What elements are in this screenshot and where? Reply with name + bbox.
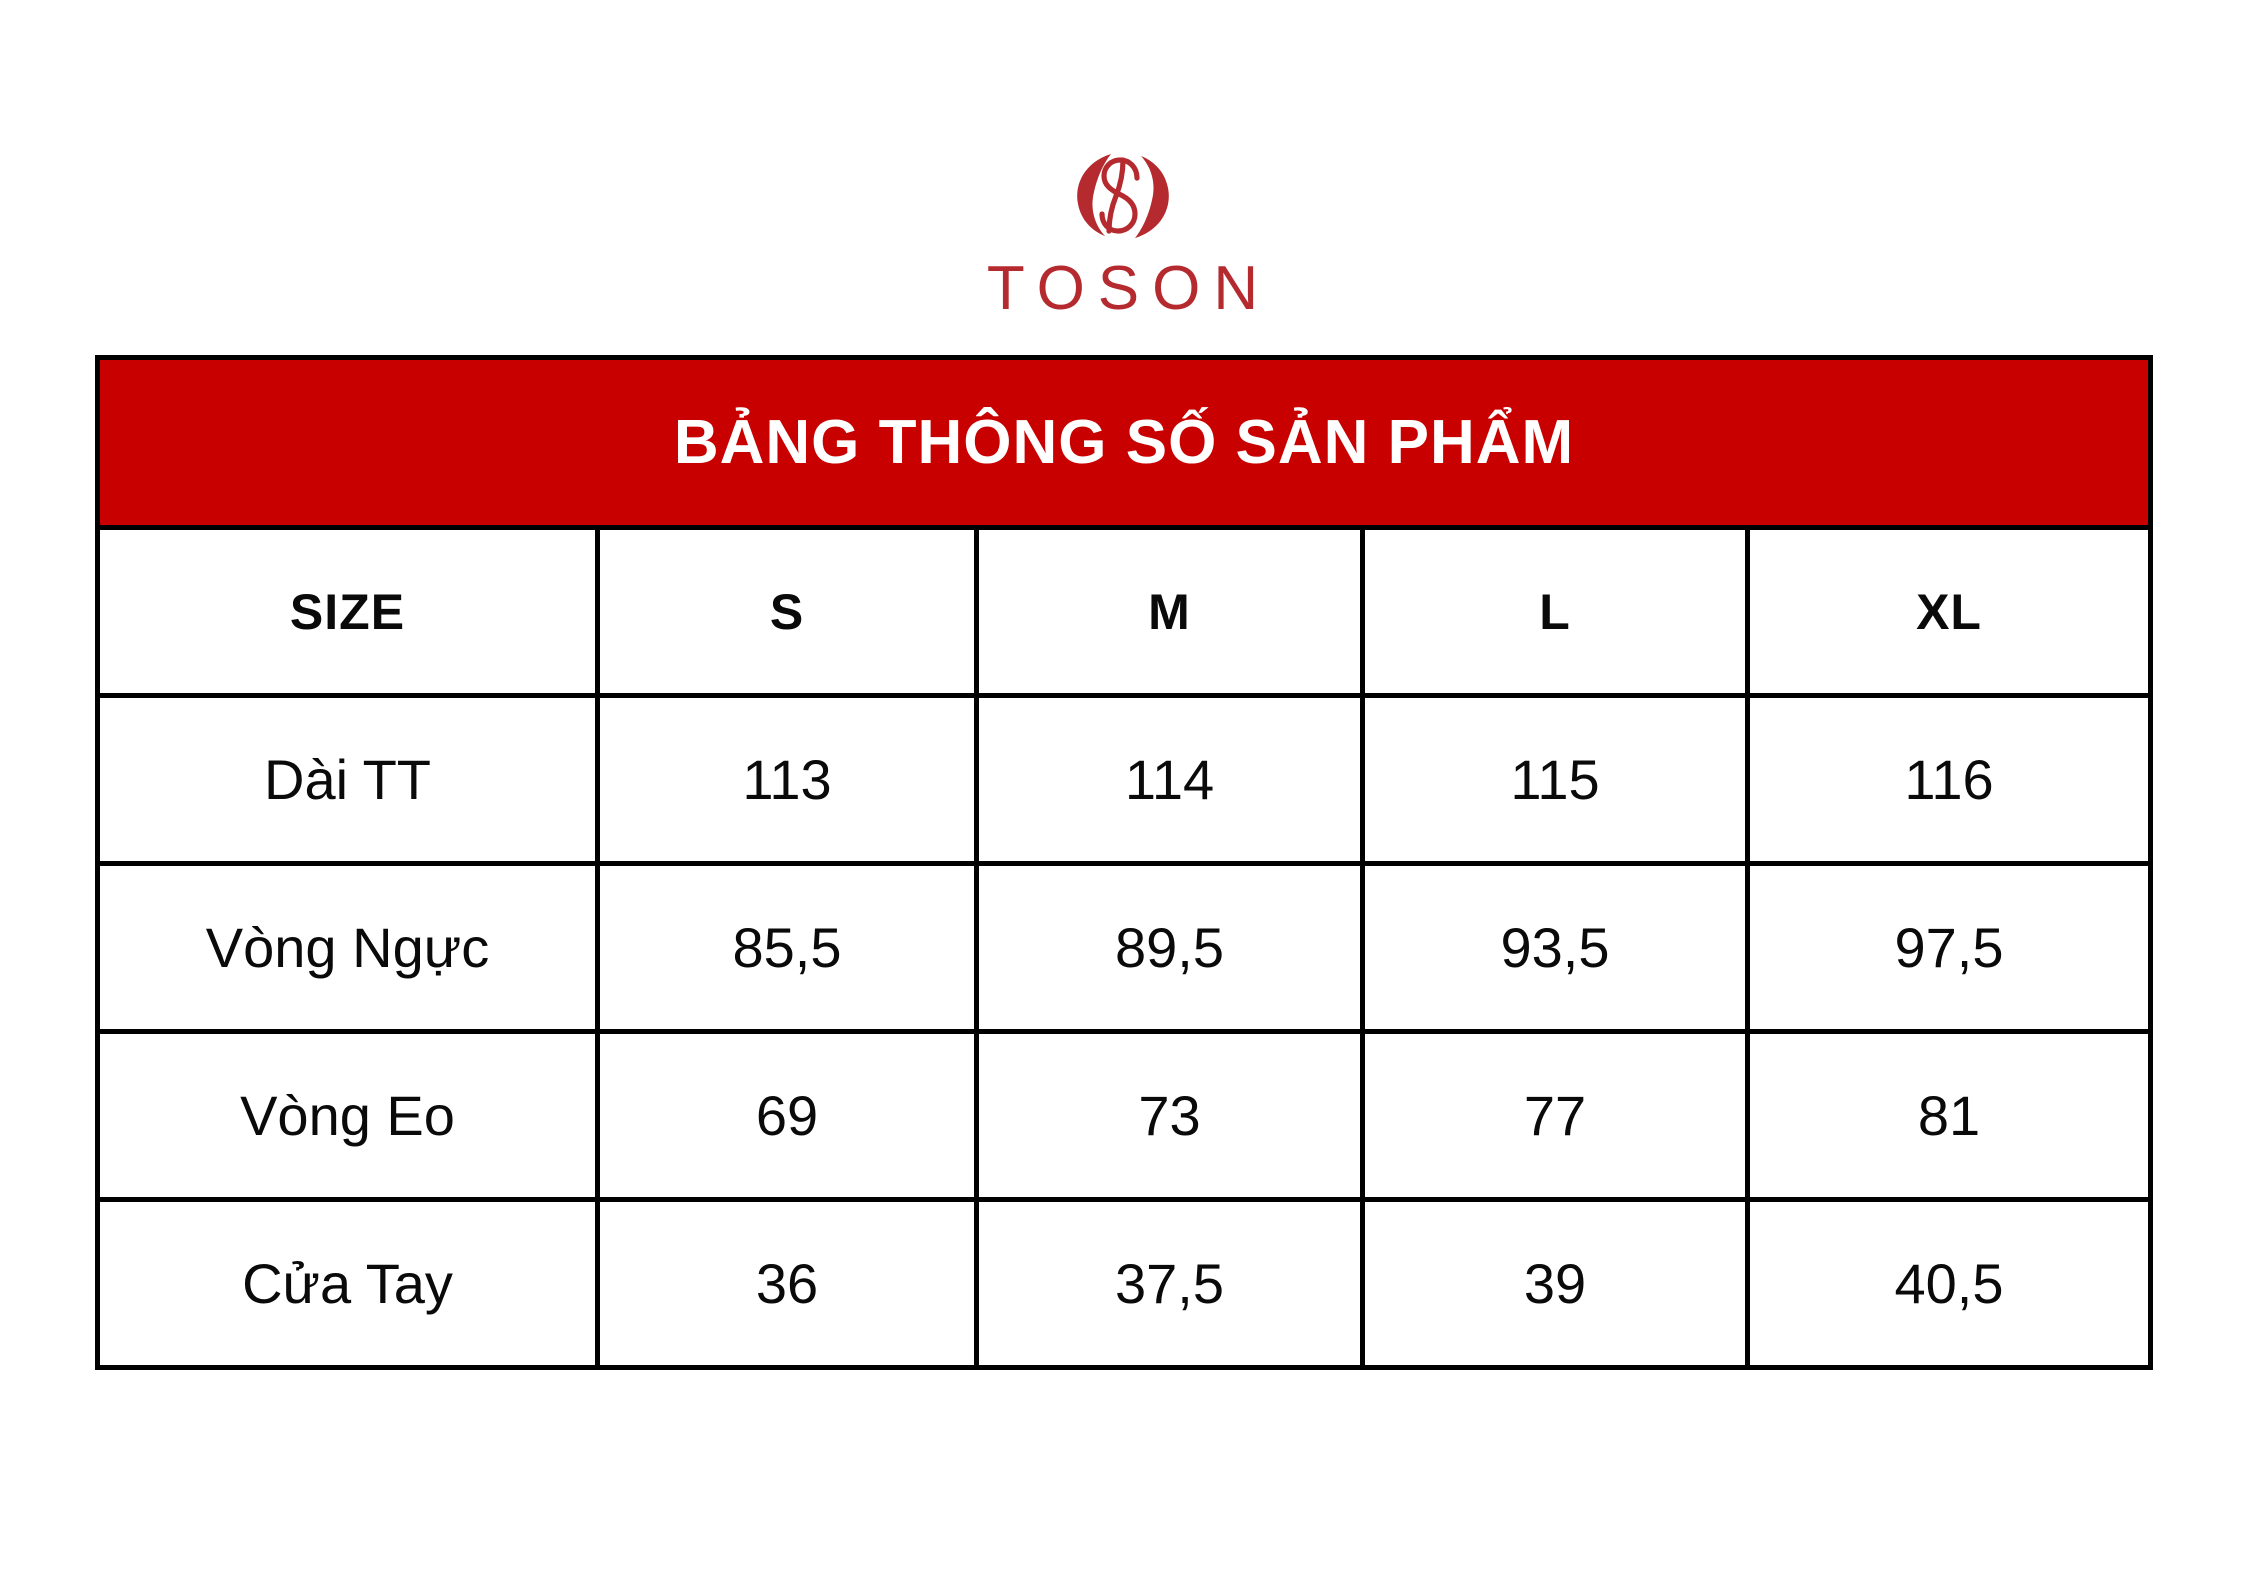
cell-vong-eo-l: 77 xyxy=(1363,1032,1748,1200)
table-row: Vòng Eo 69 73 77 81 xyxy=(98,1032,2151,1200)
cell-vong-nguc-s: 85,5 xyxy=(598,864,977,1032)
cell-vong-nguc-l: 93,5 xyxy=(1363,864,1748,1032)
row-label-vong-nguc: Vòng Ngực xyxy=(98,864,598,1032)
toson-monogram-icon xyxy=(1064,140,1182,252)
cell-cua-tay-s: 36 xyxy=(598,1200,977,1368)
cell-dai-tt-m: 114 xyxy=(977,696,1363,864)
cell-vong-nguc-m: 89,5 xyxy=(977,864,1363,1032)
table-header-row: SIZE S M L XL xyxy=(98,528,2151,696)
cell-vong-eo-xl: 81 xyxy=(1748,1032,2151,1200)
cell-dai-tt-l: 115 xyxy=(1363,696,1748,864)
column-header-l: L xyxy=(1363,528,1748,696)
brand-block: TOSON xyxy=(0,140,2245,320)
row-label-cua-tay: Cửa Tay xyxy=(98,1200,598,1368)
row-label-vong-eo: Vòng Eo xyxy=(98,1032,598,1200)
table-banner-cell: BẢNG THÔNG SỐ SẢN PHẨM xyxy=(98,358,2151,528)
table-row: Dài TT 113 114 115 116 xyxy=(98,696,2151,864)
cell-vong-nguc-xl: 97,5 xyxy=(1748,864,2151,1032)
cell-cua-tay-xl: 40,5 xyxy=(1748,1200,2151,1368)
table-row: Vòng Ngực 85,5 89,5 93,5 97,5 xyxy=(98,864,2151,1032)
cell-vong-eo-m: 73 xyxy=(977,1032,1363,1200)
cell-cua-tay-l: 39 xyxy=(1363,1200,1748,1368)
table-banner-row: BẢNG THÔNG SỐ SẢN PHẨM xyxy=(98,358,2151,528)
column-header-s: S xyxy=(598,528,977,696)
cell-dai-tt-xl: 116 xyxy=(1748,696,2151,864)
column-header-size: SIZE xyxy=(98,528,598,696)
table-row: Cửa Tay 36 37,5 39 40,5 xyxy=(98,1200,2151,1368)
cell-vong-eo-s: 69 xyxy=(598,1032,977,1200)
column-header-m: M xyxy=(977,528,1363,696)
size-chart-page: TOSON BẢNG THÔNG SỐ SẢN PHẨM SIZE S M L … xyxy=(0,0,2245,1587)
product-spec-table: BẢNG THÔNG SỐ SẢN PHẨM SIZE S M L XL Dài… xyxy=(95,355,2153,1370)
cell-cua-tay-m: 37,5 xyxy=(977,1200,1363,1368)
row-label-dai-tt: Dài TT xyxy=(98,696,598,864)
cell-dai-tt-s: 113 xyxy=(598,696,977,864)
column-header-xl: XL xyxy=(1748,528,2151,696)
page-title: BẢNG THÔNG SỐ SẢN PHẨM xyxy=(674,408,1574,477)
brand-name: TOSON xyxy=(974,258,1271,320)
